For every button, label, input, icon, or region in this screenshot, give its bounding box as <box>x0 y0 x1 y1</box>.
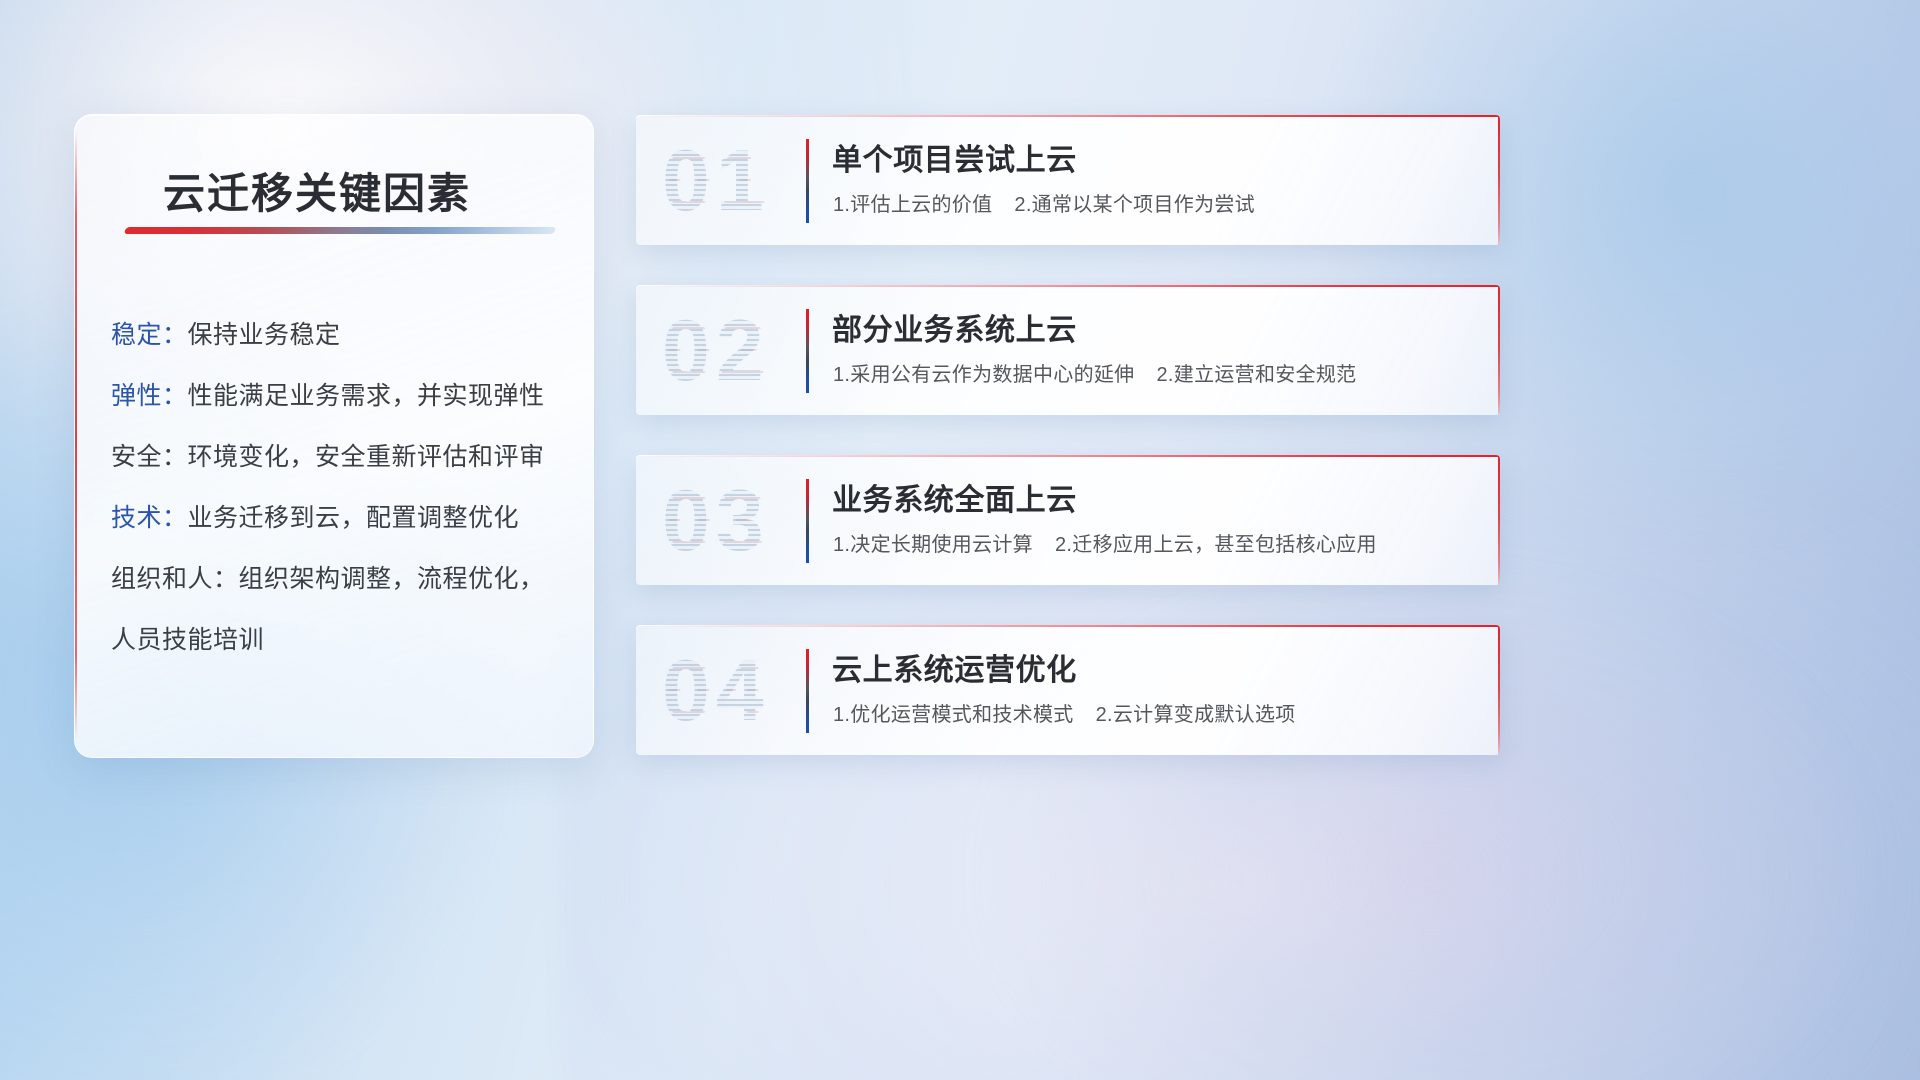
key-factor-label: 稳定： <box>111 321 188 349</box>
step-point: 1.采用公有云作为数据中心的延伸 <box>833 364 1134 386</box>
key-factor-label: 组织和人： <box>111 565 239 593</box>
key-factor-text: 人员技能培训 <box>111 626 264 654</box>
migration-step-card[interactable]: 0202部分业务系统上云1.采用公有云作为数据中心的延伸2.建立运营和安全规范 <box>636 285 1500 415</box>
key-factors-list: 稳定：保持业务稳定弹性：性能满足业务需求，并实现弹性安全：环境变化，安全重新评估… <box>111 305 569 671</box>
key-factor-text: 业务迁移到云，配置调整优化 <box>188 504 520 532</box>
step-title: 业务系统全面上云 <box>832 475 1077 519</box>
step-point: 1.决定长期使用云计算 <box>833 534 1033 556</box>
step-number: 04 <box>662 639 852 743</box>
step-divider-bar <box>806 649 809 733</box>
step-points: 1.采用公有云作为数据中心的延伸2.建立运营和安全规范 <box>833 358 1356 387</box>
key-factors-panel: 云迁移关键因素 稳定：保持业务稳定弹性：性能满足业务需求，并实现弹性安全：环境变… <box>74 114 594 758</box>
key-factor-row: 人员技能培训 <box>111 610 569 671</box>
migration-step-card[interactable]: 0303业务系统全面上云1.决定长期使用云计算2.迁移应用上云，甚至包括核心应用 <box>636 455 1500 585</box>
step-title: 单个项目尝试上云 <box>832 135 1077 179</box>
step-point: 1.评估上云的价值 <box>833 194 992 216</box>
step-title: 云上系统运营优化 <box>832 645 1077 689</box>
key-factor-text: 性能满足业务需求，并实现弹性 <box>188 382 545 410</box>
key-factor-label: 弹性： <box>111 382 188 410</box>
key-factor-row: 技术：业务迁移到云，配置调整优化 <box>111 488 569 549</box>
step-title: 部分业务系统上云 <box>832 305 1077 349</box>
step-number: 03 <box>662 469 852 573</box>
key-factor-text: 组织架构调整，流程优化， <box>239 565 545 593</box>
step-point: 2.建立运营和安全规范 <box>1156 364 1356 386</box>
step-point: 2.云计算变成默认选项 <box>1096 704 1296 726</box>
page-title: 云迁移关键因素 <box>163 160 471 221</box>
key-factor-row: 组织和人：组织架构调整，流程优化， <box>111 549 569 610</box>
step-divider-bar <box>806 139 809 223</box>
step-divider-bar <box>806 479 809 563</box>
step-points: 1.决定长期使用云计算2.迁移应用上云，甚至包括核心应用 <box>833 528 1377 557</box>
migration-step-card[interactable]: 0101单个项目尝试上云1.评估上云的价值2.通常以某个项目作为尝试 <box>636 115 1500 245</box>
step-point: 1.优化运营模式和技术模式 <box>833 704 1074 726</box>
step-number: 01 <box>662 129 852 233</box>
step-number: 02 <box>662 299 852 403</box>
key-factor-label: 技术： <box>111 504 188 532</box>
title-underline-accent <box>124 227 557 234</box>
migration-step-card[interactable]: 0404云上系统运营优化1.优化运营模式和技术模式2.云计算变成默认选项 <box>636 625 1500 755</box>
key-factor-row: 稳定：保持业务稳定 <box>111 305 569 366</box>
key-factor-row: 安全：环境变化，安全重新评估和评审 <box>111 427 569 488</box>
step-divider-bar <box>806 309 809 393</box>
step-point: 2.迁移应用上云，甚至包括核心应用 <box>1055 534 1377 556</box>
key-factor-label: 安全： <box>111 443 188 471</box>
step-point: 2.通常以某个项目作为尝试 <box>1014 194 1255 216</box>
key-factor-text: 环境变化，安全重新评估和评审 <box>188 443 545 471</box>
key-factor-row: 弹性：性能满足业务需求，并实现弹性 <box>111 366 569 427</box>
step-points: 1.优化运营模式和技术模式2.云计算变成默认选项 <box>833 698 1296 727</box>
step-points: 1.评估上云的价值2.通常以某个项目作为尝试 <box>833 188 1255 217</box>
key-factor-text: 保持业务稳定 <box>188 321 341 349</box>
